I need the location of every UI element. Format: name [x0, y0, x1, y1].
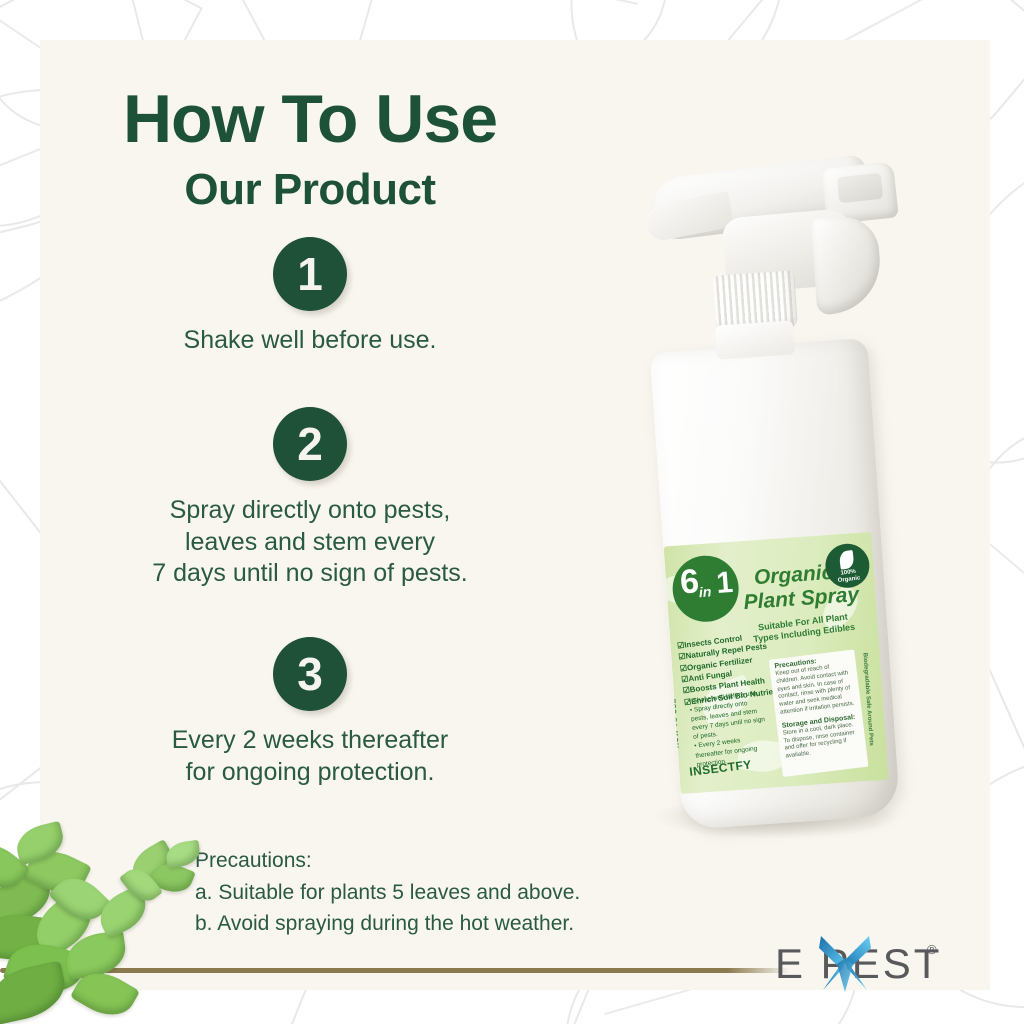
- badge-one: 1: [715, 568, 734, 599]
- basil-plant-image: [0, 818, 240, 1024]
- step-description-3: Every 2 weeks thereafter for ongoing pro…: [0, 725, 620, 788]
- expest-logo: E PEST ®: [775, 940, 945, 992]
- registered-trademark-symbol: ®: [927, 942, 937, 957]
- organic-seal-badge: 100% Organic: [823, 541, 872, 590]
- badge-in: in: [698, 583, 712, 600]
- label-howto-vertical-title: HOW TO USE: [670, 698, 680, 748]
- page-subtitle: Our Product: [0, 168, 620, 212]
- step-number-badge-1: 1: [273, 237, 347, 311]
- x-burst-icon: [819, 934, 871, 992]
- step-item-3: 3 Every 2 weeks thereafter for ongoing p…: [0, 637, 620, 788]
- step-description-2: Spray directly onto pests, leaves and st…: [0, 495, 620, 590]
- label-precautions-body: Keep out of reach of children. Avoid con…: [775, 662, 856, 718]
- six-in-one-badge: 6 in 1: [670, 554, 740, 624]
- step-description-1: Shake well before use.: [0, 325, 620, 357]
- poster-canvas: How To Use Our Product 1 Shake well befo…: [0, 0, 1024, 1024]
- label-info-panel: Precautions: Keep out of reach of childr…: [769, 649, 869, 777]
- page-title: How To Use: [0, 85, 620, 153]
- sprayer-trigger: [811, 215, 884, 315]
- badge-six: 6: [679, 564, 700, 599]
- step-item-2: 2 Spray directly onto pests, leaves and …: [0, 407, 620, 590]
- precautions-text: Precautions: a. Suitable for plants 5 le…: [195, 845, 675, 940]
- step-number-badge-3: 3: [273, 637, 347, 711]
- step-number-badge-2: 2: [273, 407, 347, 481]
- sprayer-back-slot: [837, 173, 883, 203]
- step-item-1: 1 Shake well before use.: [0, 237, 620, 357]
- leaf-icon: [839, 550, 855, 570]
- bottle-neck: [715, 320, 795, 359]
- label-howto-text: • Shake well before use. • Spray directl…: [688, 688, 770, 769]
- product-bottle-image: 6 in 1 Organic Plant Spray Suitable For …: [628, 155, 928, 865]
- product-label: 6 in 1 Organic Plant Spray Suitable For …: [664, 532, 889, 794]
